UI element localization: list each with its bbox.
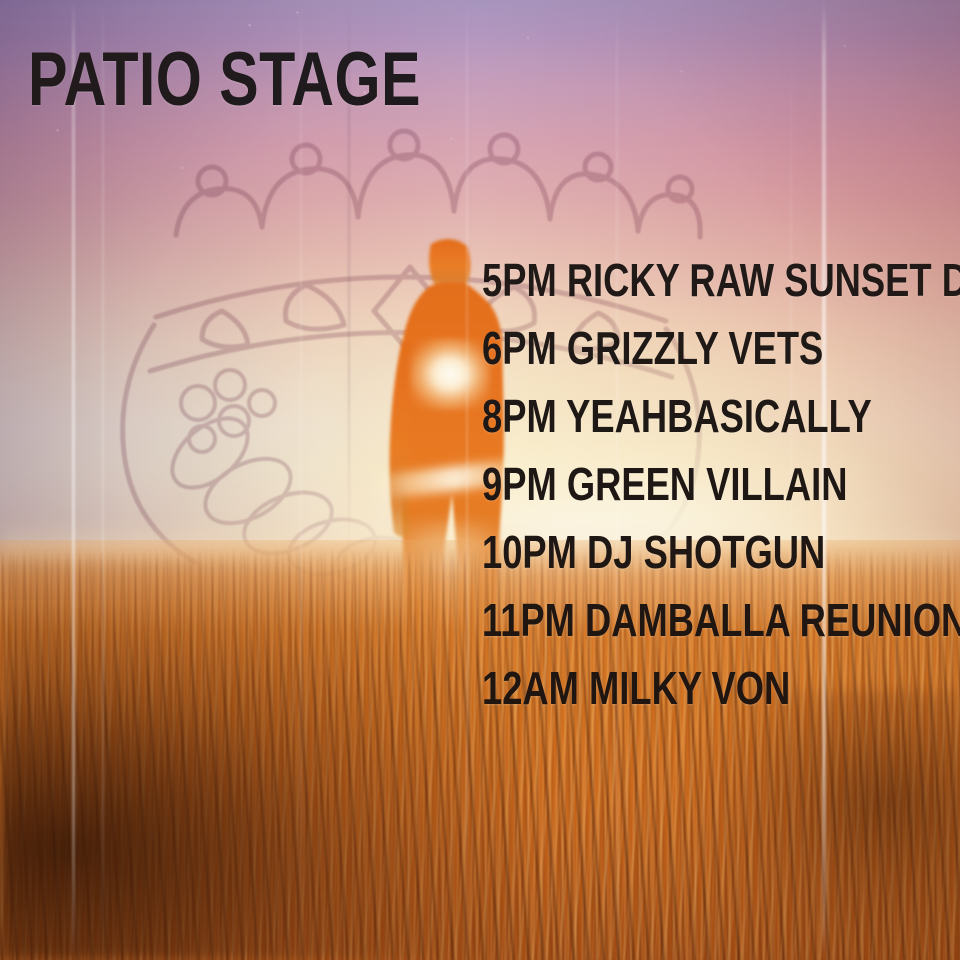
lineup-list: 5PM RICKY RAW SUNSET DJ SET 6PM GRIZZLY … (482, 246, 952, 722)
lineup-item: 8PM YEAHBASICALLY (482, 382, 853, 450)
lineup-item: 9PM GREEN VILLAIN (482, 450, 853, 518)
poster-canvas: PATIO STAGE 5PM RICKY RAW SUNSET DJ SET … (0, 0, 960, 960)
field-shadow-left (0, 560, 520, 960)
lineup-item: 11PM DAMBALLA REUNION SET (482, 586, 853, 654)
lens-flare-shoulder (410, 338, 490, 410)
lineup-item: 10PM DJ SHOTGUN (482, 518, 853, 586)
lineup-item: 6PM GRIZZLY VETS (482, 314, 853, 382)
lineup-item: 5PM RICKY RAW SUNSET DJ SET (482, 246, 853, 314)
lineup-item: 12AM MILKY VON (482, 654, 853, 722)
field-shadow-right (700, 690, 960, 960)
page-title: PATIO STAGE (28, 42, 421, 118)
